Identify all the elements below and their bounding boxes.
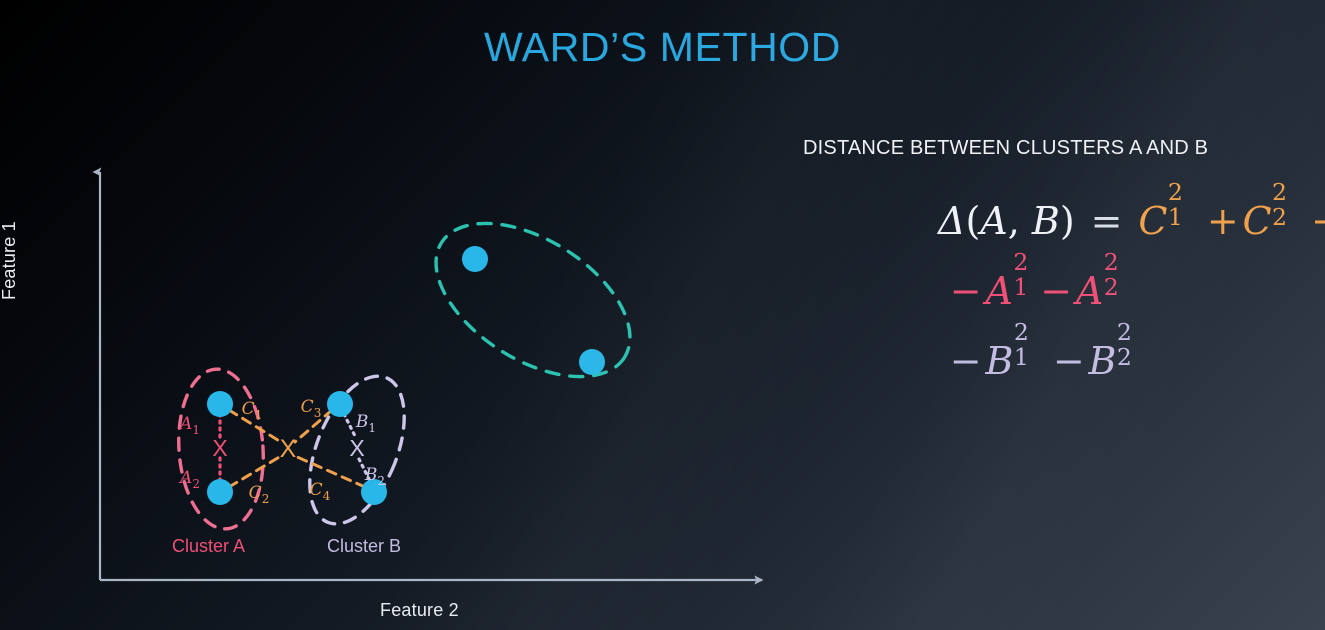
formula-heading: DISTANCE BETWEEN CLUSTERS A AND B [803, 137, 1323, 160]
formula-line-1: Δ(A, B) = C21 +C22 +C23 +C24 [938, 196, 1325, 240]
scatter-plot: X X X A1 A2 B1 B2 C1 C2 C3 C4 Feature 1 … [0, 0, 790, 630]
minus-b2: − [1049, 339, 1088, 383]
term-c1: C21 [1138, 199, 1191, 243]
centroid-marker-merged: X [280, 435, 297, 463]
cluster-a-label: Cluster A [172, 536, 245, 557]
term-a2: A22 [1076, 269, 1127, 313]
minus-a1: − [946, 269, 985, 313]
point-label-b1: B1 [355, 412, 376, 435]
y-axis-label: Feature 1 [0, 221, 20, 300]
plus-1: + [1203, 199, 1242, 243]
term-a1: A21 [985, 269, 1036, 313]
minus-a2: − [1036, 269, 1075, 313]
term-b1: B21 [985, 339, 1036, 383]
equals-sign: = [1087, 199, 1126, 243]
point-label-b2: B2 [364, 465, 385, 488]
centroid-marker-a: X [212, 435, 227, 461]
formula-block: Δ(A, B) = C21 +C22 +C23 +C24 −A21−A22 −B… [938, 196, 1325, 380]
term-c2: C22 [1242, 199, 1295, 243]
term-b2: B22 [1088, 339, 1139, 383]
plus-2: + [1307, 199, 1325, 243]
delta-symbol: Δ [938, 199, 965, 243]
point-label-a2: A2 [178, 468, 200, 491]
point-label-c2: C2 [249, 483, 270, 506]
point-label-c1: C1 [242, 399, 263, 422]
formula-line-2: −A21−A22 [946, 266, 1325, 310]
data-point-teal-1 [462, 246, 488, 272]
point-label-c4: C4 [310, 480, 331, 503]
data-point-teal-2 [579, 349, 605, 375]
x-axis-label: Feature 2 [380, 600, 459, 621]
data-point-a1 [207, 391, 233, 417]
var-b: B [1032, 199, 1060, 243]
slide-canvas: WARD’S METHOD [0, 0, 1325, 630]
paren-close: ) [1060, 199, 1075, 243]
formula-line-3: −B21 −B22 [946, 336, 1325, 380]
point-label-c3: C3 [301, 397, 322, 420]
data-point-b1 [327, 391, 353, 417]
point-label-a1: A1 [178, 414, 200, 437]
cluster-ellipse-teal [410, 192, 657, 408]
cluster-b-label: Cluster B [327, 536, 401, 557]
centroid-marker-b: X [349, 435, 364, 461]
paren-open: ( [965, 199, 980, 243]
var-a: A [980, 199, 1007, 243]
data-point-a2 [207, 479, 233, 505]
minus-b1: − [946, 339, 985, 383]
comma: , [1008, 199, 1020, 243]
